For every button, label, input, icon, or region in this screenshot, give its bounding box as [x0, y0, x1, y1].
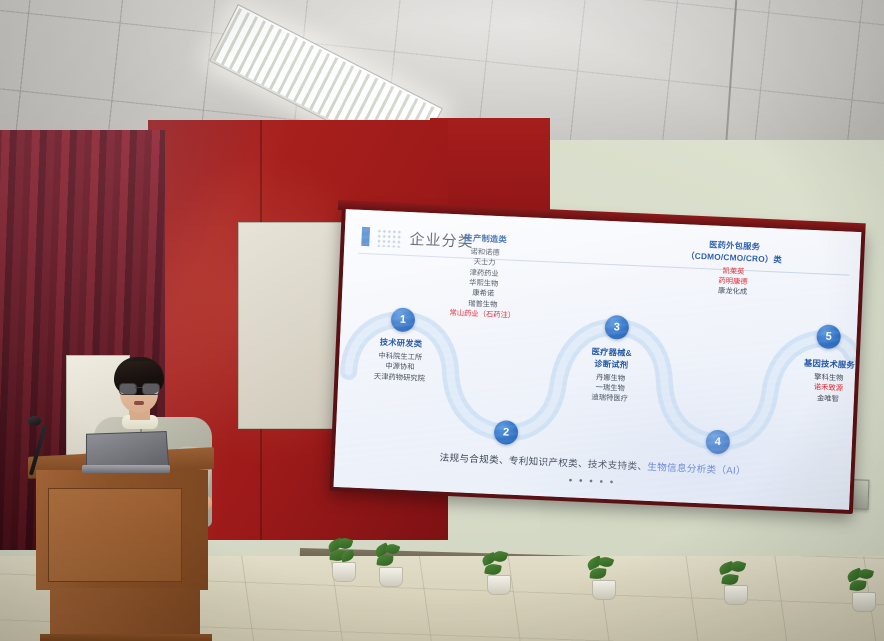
podium-front-panel	[48, 488, 182, 582]
laptop-keyboard[interactable]	[82, 465, 170, 473]
laptop[interactable]	[82, 432, 170, 476]
podium	[28, 452, 218, 641]
presenter-hair-front	[116, 361, 163, 379]
potted-plant	[585, 556, 619, 600]
projection-screen: 企业分类 1 2 3 4 5 6 技术研发类中科院生工所中源协和天津药物研究院 …	[329, 206, 865, 514]
step-column-1: 技术研发类中科院生工所中源协和天津药物研究院	[340, 335, 460, 385]
presenter-mouth	[134, 401, 144, 405]
conference-room-scene: 昊禾生物 企业分类 1 2 3	[0, 0, 884, 641]
screen-surface: 企业分类 1 2 3 4 5 6 技术研发类中科院生工所中源协和天津药物研究院 …	[333, 209, 861, 510]
step-column-5: 基因技术服务擎科生物诺禾致源金唯智	[768, 356, 862, 406]
potted-plant	[717, 561, 751, 605]
potted-plant	[372, 543, 406, 587]
step-column-2: 生产制造类诺和诺德天士力津药药业华熙生物康希诺瑞普生物常山药业（石药注）	[419, 231, 549, 323]
wall-cream-panel	[238, 222, 348, 429]
potted-plant	[480, 551, 514, 595]
presenter-glasses	[119, 383, 160, 393]
footer-plain: 法规与合规类、专利知识产权类、技术支持类、	[439, 453, 647, 473]
potted-plant	[845, 568, 879, 612]
slide: 企业分类 1 2 3 4 5 6 技术研发类中科院生工所中源协和天津药物研究院 …	[333, 209, 861, 510]
title-accent-bar	[361, 227, 370, 246]
podium-plinth	[40, 634, 212, 641]
footer-highlight: 生物信息分析类（AI）	[647, 462, 746, 477]
title-dot-pattern-icon	[376, 228, 403, 247]
slide-diagram: 1 2 3 4 5 6 技术研发类中科院生工所中源协和天津药物研究院 生产制造类…	[335, 253, 859, 466]
step-column-3: 医疗器械&诊断试剂丹娜生物一瑞生物迪瑞特医疗	[550, 344, 672, 406]
microphone-head	[28, 416, 41, 426]
step-column-4: 医药外包服务（CDMO/CMO/CRO）类凯莱英药明康德康龙化成	[652, 237, 814, 301]
potted-plant	[326, 538, 360, 582]
